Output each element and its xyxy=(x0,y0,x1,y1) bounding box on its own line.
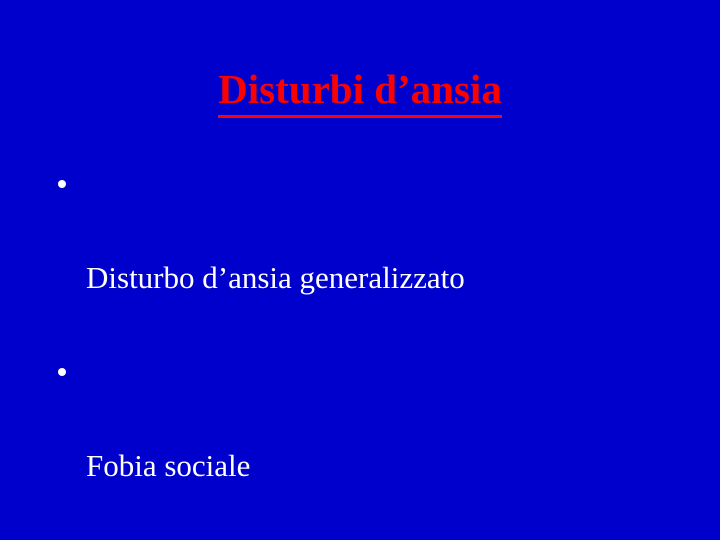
page-title: Disturbi d’ansia xyxy=(218,66,502,118)
list-item-label: Disturbo d’ansia generalizzato xyxy=(86,254,658,301)
list-item-label: Fobia sociale xyxy=(86,442,658,489)
bullet-dot-icon xyxy=(58,180,66,188)
presentation-slide: Disturbi d’ansia Disturbo d’ansia genera… xyxy=(0,0,720,540)
bullet-dot-icon xyxy=(58,368,66,376)
bullet-list: Disturbo d’ansia generalizzato Fobia soc… xyxy=(58,160,658,540)
list-item: Disturbo ossessivo-compulsivo xyxy=(58,536,658,540)
list-item: Disturbo d’ansia generalizzato xyxy=(58,160,658,348)
title-block: Disturbi d’ansia xyxy=(0,66,720,118)
list-item: Fobia sociale xyxy=(58,348,658,536)
body-block: Disturbo d’ansia generalizzato Fobia soc… xyxy=(58,160,658,540)
